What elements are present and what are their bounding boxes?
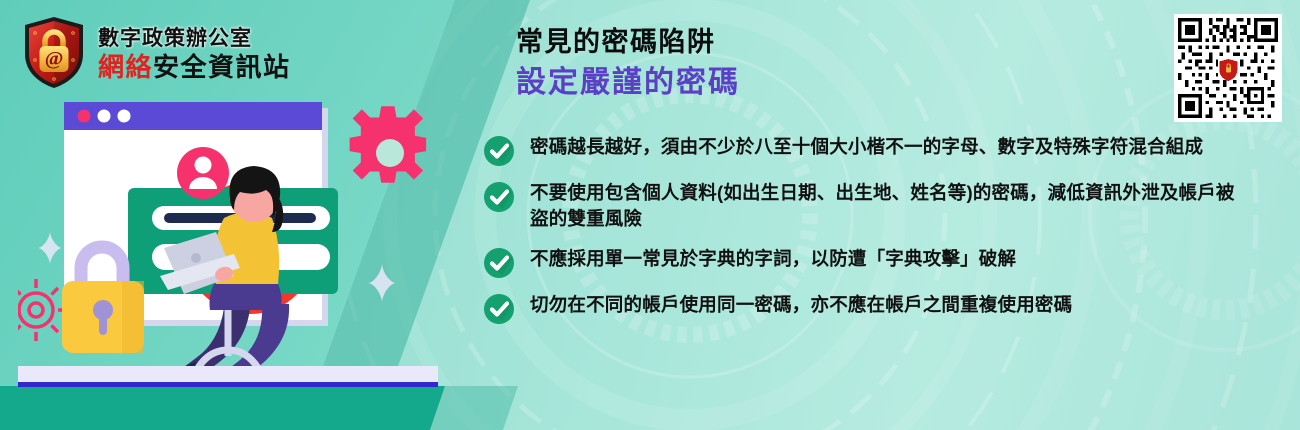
page-subtitle: 設定嚴謹的密碼 [516,63,1216,102]
logo-org-line2-black: 安全資訊站 [153,52,291,82]
gear-icon [18,279,67,341]
floor-band [18,366,438,384]
user-avatar-icon [177,147,229,199]
gear-icon [350,106,427,183]
logo-org-line2: 網絡安全資訊站 [98,54,291,80]
window-dot-minimize [98,110,111,123]
page-title: 常見的密碼陷阱 [516,26,1216,60]
check-circle-icon [483,247,515,279]
shield-lock-at-icon: @ [22,16,86,90]
list-item-text: 切勿在不同的帳戶使用同一密碼，亦不應在帳戶之間重複使用密碼 [530,292,1072,318]
shield-lock-icon [1218,58,1239,81]
qr-code-icon [1178,18,1278,118]
window-dot-close [78,110,91,123]
list-item: 密碼越長越好，須由不少於八至十個大小楷不一的字母、數字及特殊字符混合組成 [483,134,1243,167]
tips-list: 密碼越長越好，須由不少於八至十個大小楷不一的字母、數字及特殊字符混合組成 不要使… [483,134,1243,325]
heading-block: 常見的密碼陷阱 設定嚴謹的密碼 [516,26,1216,102]
svg-text:@: @ [45,48,64,70]
list-item: 切勿在不同的帳戶使用同一密碼，亦不應在帳戶之間重複使用密碼 [483,292,1243,325]
list-item-text: 密碼越長越好，須由不少於八至十個大小楷不一的字母、數字及特殊字符混合組成 [530,134,1203,160]
list-item-text: 不要使用包含個人資料(如出生日期、出生地、姓名等)的密碼，減低資訊外泄及帳戶被盜… [530,180,1242,233]
list-item: 不應採用單一常見於字典的字詞，以防遭「字典攻擊」破解 [483,246,1243,279]
floor-shadow [18,387,438,398]
window-dot-maximize [118,110,131,123]
check-circle-icon [483,135,515,167]
list-item-text: 不應採用單一常見於字典的字詞，以防遭「字典攻擊」破解 [530,246,1016,272]
floor-line [18,382,438,387]
check-circle-icon [483,293,515,325]
check-circle-icon [483,181,515,213]
logo-org-line2-red: 網絡 [98,52,153,82]
security-banner: @ 數字政策辦公室 網絡安全資訊站 [0,0,1300,430]
logo-org-line1: 數字政策辦公室 [98,28,291,49]
qr-code[interactable] [1174,14,1282,122]
site-logo[interactable]: @ 數字政策辦公室 網絡安全資訊站 [22,16,291,90]
woman-with-laptop-illustration: ****** [18,98,438,398]
list-item: 不要使用包含個人資料(如出生日期、出生地、姓名等)的密碼，減低資訊外泄及帳戶被盜… [483,180,1243,233]
